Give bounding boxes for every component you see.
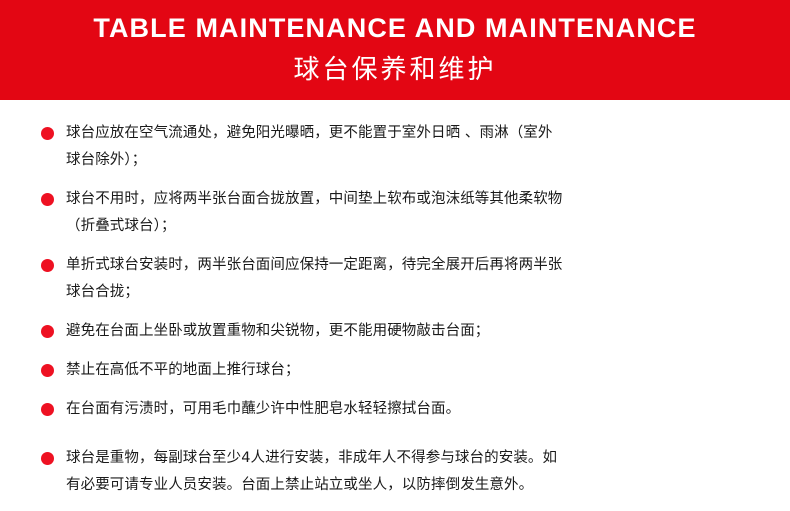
maintenance-info-page: TABLE MAINTENANCE AND MAINTENANCE 球台保养和维…	[0, 0, 790, 480]
list-item: 禁止在高低不平的地面上推行球台；	[36, 357, 576, 384]
list-item-text: 禁止在高低不平的地面上推行球台；	[66, 357, 566, 384]
page-title-chinese: 球台保养和维护	[0, 53, 790, 87]
list-item: 单折式球台安装时，两半张台面间应保持一定距离，待完全展开后再将两半张球台合拢；	[36, 252, 576, 306]
list-item-text: 球台不用时，应将两半张台面合拢放置，中间垫上软布或泡沫纸等其他柔软物（折叠式球台…	[66, 186, 566, 240]
list-item: 球台应放在空气流通处，避免阳光曝晒，更不能置于室外日晒 、雨淋（室外球台除外）；	[36, 120, 576, 174]
bullet-dot-icon	[41, 364, 54, 377]
list-item: 球台不用时，应将两半张台面合拢放置，中间垫上软布或泡沫纸等其他柔软物（折叠式球台…	[36, 186, 576, 240]
list-item-text: 球台应放在空气流通处，避免阳光曝晒，更不能置于室外日晒 、雨淋（室外球台除外）；	[66, 120, 566, 174]
list-item-text: 避免在台面上坐卧或放置重物和尖锐物，更不能用硬物敲击台面；	[66, 318, 566, 345]
bullet-dot-icon	[41, 403, 54, 416]
list-item-text: 球台是重物，每副球台至少4人进行安装，非成年人不得参与球台的安装。如有必要可请专…	[66, 445, 566, 499]
header-banner: TABLE MAINTENANCE AND MAINTENANCE 球台保养和维…	[0, 0, 790, 100]
maintenance-instruction-list: 球台应放在空气流通处，避免阳光曝晒，更不能置于室外日晒 、雨淋（室外球台除外）；…	[36, 120, 576, 511]
list-item: 在台面有污渍时，可用毛巾蘸少许中性肥皂水轻轻擦拭台面。	[36, 396, 576, 423]
bullet-dot-icon	[41, 127, 54, 140]
content-area: 球台应放在空气流通处，避免阳光曝晒，更不能置于室外日晒 、雨淋（室外球台除外）；…	[0, 100, 790, 480]
bullet-dot-icon	[41, 259, 54, 272]
list-item: 避免在台面上坐卧或放置重物和尖锐物，更不能用硬物敲击台面；	[36, 318, 576, 345]
bullet-dot-icon	[41, 325, 54, 338]
bullet-dot-icon	[41, 193, 54, 206]
bullet-dot-icon	[41, 452, 54, 465]
list-item-text: 单折式球台安装时，两半张台面间应保持一定距离，待完全展开后再将两半张球台合拢；	[66, 252, 566, 306]
list-item-text: 在台面有污渍时，可用毛巾蘸少许中性肥皂水轻轻擦拭台面。	[66, 396, 566, 423]
page-title-english: TABLE MAINTENANCE AND MAINTENANCE	[0, 12, 790, 44]
list-item: 球台是重物，每副球台至少4人进行安装，非成年人不得参与球台的安装。如有必要可请专…	[36, 445, 576, 499]
